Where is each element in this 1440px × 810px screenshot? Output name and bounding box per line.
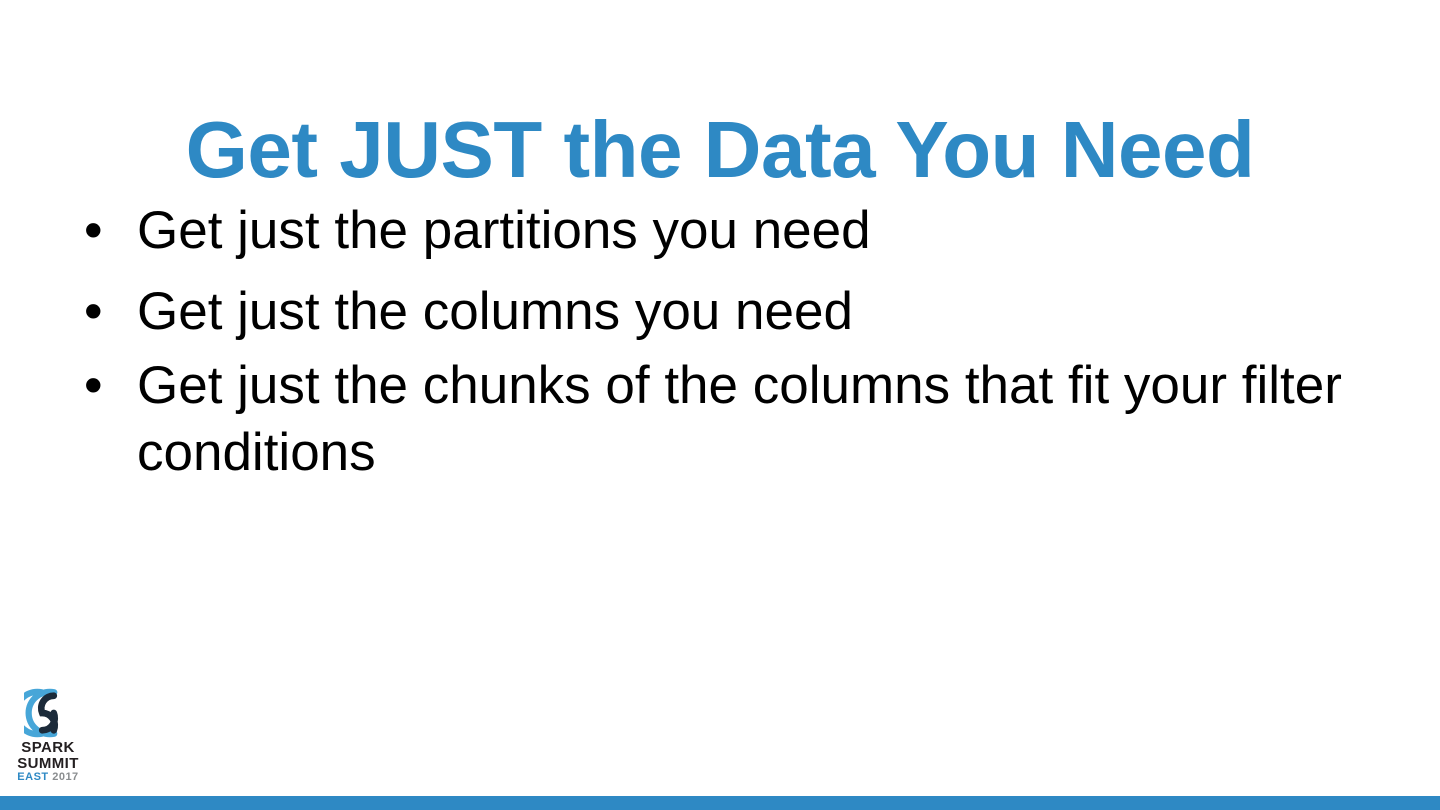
bullet-point-icon: •: [72, 271, 137, 352]
logo-line-edition: EAST 2017: [10, 772, 86, 783]
bullet-point-icon: •: [72, 352, 137, 419]
bullet-text: Get just the partitions you need: [137, 190, 1342, 271]
footer-accent-bar: [0, 796, 1440, 810]
list-item: • Get just the partitions you need: [72, 190, 1342, 271]
bullet-list: • Get just the partitions you need • Get…: [72, 190, 1342, 486]
logo-line-spark: SPARK: [10, 740, 86, 756]
spark-summit-logo: SPARK SUMMIT EAST 2017: [10, 688, 86, 786]
logo-wordmark: SPARK SUMMIT EAST 2017: [10, 740, 86, 784]
logo-line-summit: SUMMIT: [10, 756, 86, 772]
bullet-text: Get just the columns you need: [137, 271, 1342, 352]
bullet-point-icon: •: [72, 190, 137, 271]
bullet-text: Get just the chunks of the columns that …: [137, 352, 1342, 486]
logo-year: 2017: [52, 771, 78, 783]
logo-edition-label: EAST: [17, 771, 48, 783]
list-item: • Get just the columns you need: [72, 271, 1342, 352]
list-item: • Get just the chunks of the columns tha…: [72, 352, 1342, 486]
slide-title: Get JUST the Data You Need: [0, 102, 1440, 198]
presentation-slide: Get JUST the Data You Need • Get just th…: [0, 0, 1440, 810]
spark-summit-spiral-icon: [24, 688, 72, 738]
